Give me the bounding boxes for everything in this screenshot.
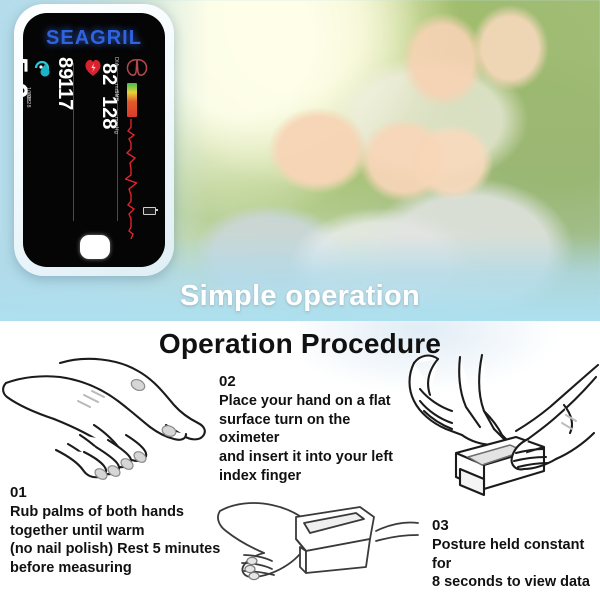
sys-unit-sub: mmHg bbox=[113, 117, 119, 157]
step-02-line-2: surface turn on the oximeter bbox=[219, 411, 399, 449]
finger-inserting-oximeter-icon bbox=[398, 349, 600, 499]
step-01-number: 01 bbox=[10, 484, 225, 503]
bp-level-bar bbox=[127, 83, 137, 117]
step-01-line-2: together until warm bbox=[10, 522, 225, 541]
diastolic-value: 82 bbox=[98, 63, 120, 85]
battery-icon bbox=[143, 207, 156, 215]
blood-pressure-column: DIA 82 mmHg SYS 128 mmHg bbox=[119, 57, 159, 227]
step-03-line-1: Posture held constant for bbox=[432, 536, 600, 574]
heart-rate-secondary: 117 bbox=[54, 78, 76, 110]
device-readout: 5.6mmol/L 10/08 08:28 bbox=[29, 57, 159, 227]
step-01: 01 Rub palms of both hands together unti… bbox=[10, 484, 225, 578]
device-screen: SEAGRIL 5 bbox=[23, 13, 165, 267]
oximeter-device: SEAGRIL 5 bbox=[14, 4, 174, 282]
step-02-number: 02 bbox=[219, 373, 399, 392]
device-body: SEAGRIL 5 bbox=[14, 4, 174, 276]
step-02: 02 Place your hand on a flat surface tur… bbox=[219, 373, 399, 486]
step-01-line-4: before measuring bbox=[10, 559, 225, 578]
heart-rate-value: 89 bbox=[54, 57, 76, 79]
step-02-line-1: Place your hand on a flat bbox=[219, 392, 399, 411]
device-brand-logo: SEAGRIL bbox=[23, 27, 165, 50]
droplet-glucose-icon bbox=[33, 59, 55, 77]
hand-resting-with-oximeter-icon bbox=[214, 493, 420, 599]
step-01-line-3: (no nail polish) Rest 5 minutes bbox=[10, 540, 225, 559]
step-03-number: 03 bbox=[432, 517, 600, 536]
banner-tagline: Simple operation bbox=[0, 280, 600, 313]
glucose-time: 08:28 bbox=[25, 93, 31, 133]
hero-banner: Simple operation SEAGRIL bbox=[0, 0, 600, 321]
step-02-line-3: and insert it into your left bbox=[219, 448, 399, 467]
hands-rubbing-together-icon bbox=[0, 357, 212, 497]
procedure-panel: Operation Procedure bbox=[0, 321, 600, 600]
step-03: 03 Posture held constant for 8 seconds t… bbox=[432, 517, 600, 592]
device-power-button[interactable] bbox=[80, 235, 110, 259]
step-01-line-1: Rub palms of both hands bbox=[10, 503, 225, 522]
step-03-line-2: 8 seconds to view data bbox=[432, 573, 600, 592]
product-infographic: Simple operation SEAGRIL bbox=[0, 0, 600, 600]
step-02-line-4: index finger bbox=[219, 467, 399, 486]
lungs-icon bbox=[125, 58, 149, 78]
